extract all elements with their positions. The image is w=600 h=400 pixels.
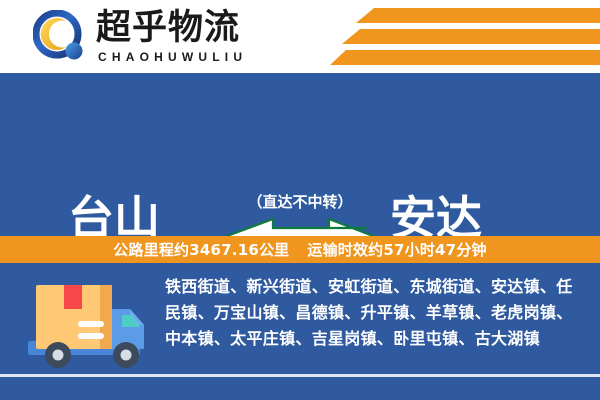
brand-name-cn: 超乎物流 [96,8,240,48]
transit-duration-text: 运输时效约57小时47分钟 [307,239,486,260]
logistics-route-poster: 超乎物流 CHAOHUWULIU 台山 安达 （直达不中转） 【往返运输】 公路… [0,0,600,400]
bottom-divider [0,374,600,377]
delivery-truck-icon [26,279,154,373]
distance-duration-bar: 公路里程约3467.16公里 运输时效约57小时47分钟 [0,236,600,263]
circle-q-logo-icon [33,10,87,64]
header-bar: 超乎物流 CHAOHUWULIU [0,0,600,73]
orange-stripes-decoration-icon [330,8,600,66]
brand-name-en: CHAOHUWULIU [98,50,247,64]
direct-shipping-note: （直达不中转） [0,191,600,212]
road-distance-text: 公路里程约3467.16公里 [113,239,289,260]
route-banner: 台山 安达 （直达不中转） 【往返运输】 [0,73,600,236]
coverage-area-section: 铁西街道、新兴街道、安虹街道、东城街道、安达镇、任民镇、万宝山镇、昌德镇、升平镇… [0,263,600,400]
coverage-area-list: 铁西街道、新兴街道、安虹街道、东城街道、安达镇、任民镇、万宝山镇、昌德镇、升平镇… [165,274,585,352]
